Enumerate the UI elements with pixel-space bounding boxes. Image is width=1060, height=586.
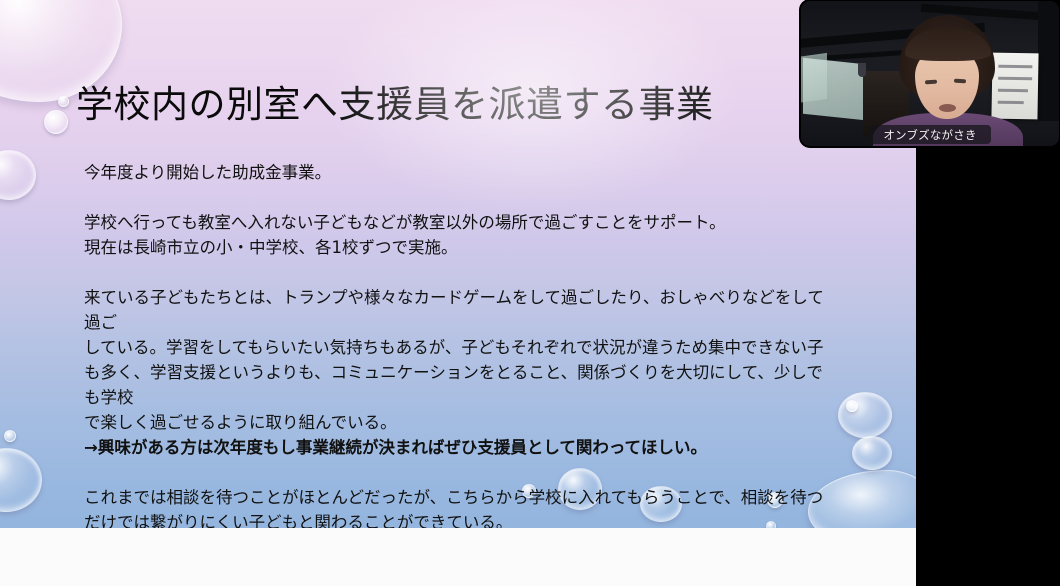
poster-text-line [998, 89, 1028, 93]
body-line: 学校へ行っても教室へ入れない子どもなどが教室以外の場所で過ごすことをサポート。 [84, 210, 824, 235]
water-droplet-icon [852, 436, 892, 470]
paragraph-4: これまでは相談を待つことがほとんどだったが、こちらから学校に入れてもらうことで、… [84, 485, 824, 528]
wall-poster [991, 53, 1038, 120]
body-line: 今年度より開始した助成金事業。 [84, 160, 824, 185]
water-droplet-icon [0, 448, 42, 512]
presentation-slide: 学校内の別室へ支援員を派遣する事業 今年度より開始した助成金事業。 学校へ行って… [0, 0, 916, 528]
person-mouth [939, 104, 956, 112]
poster-text-line [998, 101, 1024, 104]
water-droplet-icon [4, 430, 16, 442]
water-droplet-icon [0, 150, 36, 200]
person-eye [954, 79, 966, 84]
body-line: で楽しく過ごせるように取り組んでいる。 [84, 410, 824, 435]
slide-underflow-area [0, 528, 916, 586]
participant-name-badge: オンブズながさき [869, 125, 991, 144]
poster-text-line [998, 77, 1032, 81]
paragraph-spacer [84, 460, 824, 485]
slide-body-text: 今年度より開始した助成金事業。 学校へ行っても教室へ入れない子どもなどが教室以外… [84, 160, 824, 528]
paragraph-3: 来ている子どもたちとは、トランプや様々なカードゲームをして過ごしたり、おしゃべり… [84, 285, 824, 460]
paragraph-spacer [84, 260, 824, 285]
body-line: これまでは相談を待つことがほとんどだったが、こちらから学校に入れてもらうことで、… [84, 485, 824, 510]
empty-stage-area [916, 146, 1060, 586]
screen-canvas: 学校内の別室へ支援員を派遣する事業 今年度より開始した助成金事業。 学校へ行って… [0, 0, 1060, 586]
body-line: 来ている子どもたちとは、トランプや様々なカードゲームをして過ごしたり、おしゃべり… [84, 285, 824, 335]
water-droplet-icon [44, 110, 68, 134]
webcam-video-tile[interactable]: オンブズながさき [801, 1, 1059, 146]
paragraph-spacer [84, 185, 824, 210]
dark-wall [1038, 1, 1059, 121]
slide-title: 学校内の別室へ支援員を派遣する事業 [76, 84, 714, 127]
water-droplet-icon [846, 400, 858, 412]
water-droplet-icon [808, 470, 916, 528]
water-droplet-icon [58, 96, 69, 107]
body-line: 現在は長崎市立の小・中学校、各1校ずつで実施。 [84, 235, 824, 260]
body-line: だけでは繋がりにくい子どもと関わることができている。 [84, 510, 824, 528]
paragraph-2: 学校へ行っても教室へ入れない子どもなどが教室以外の場所で過ごすことをサポート。 … [84, 210, 824, 260]
person-eye [925, 80, 937, 85]
body-line: も多く、学習支援というよりも、コミュニケーションをとること、関係づくりを大切にし… [84, 360, 824, 410]
poster-text-line [998, 65, 1032, 69]
wall-panel [803, 58, 865, 121]
paragraph-1: 今年度より開始した助成金事業。 [84, 160, 824, 185]
lamp-icon [858, 63, 866, 77]
body-line: している。学習をしてもらいたい気持ちもあるが、子どもそれぞれで状況が違うため集中… [84, 335, 824, 360]
body-line-highlight: →興味がある方は次年度もし事業継続が決まればぜひ支援員として関わってほしい。 [84, 435, 824, 460]
water-droplet-icon [838, 392, 892, 438]
